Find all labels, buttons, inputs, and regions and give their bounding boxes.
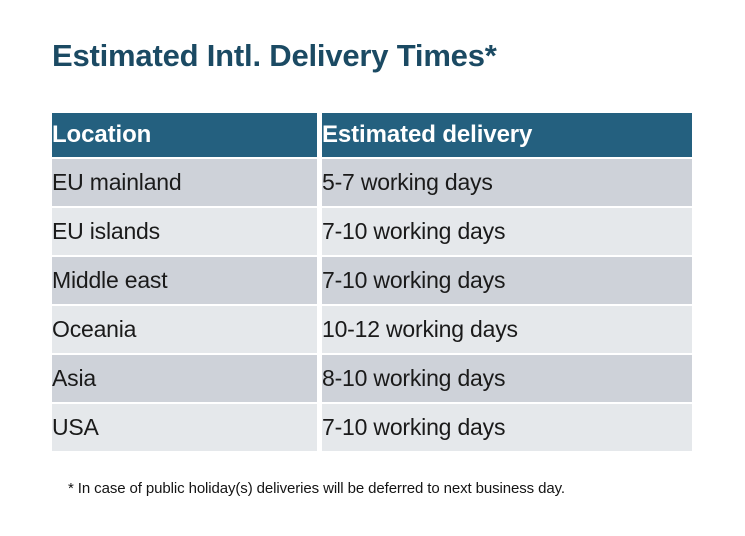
cell-location: EU mainland: [52, 159, 317, 206]
table-row: Asia 8-10 working days: [52, 355, 692, 402]
cell-delivery: 8-10 working days: [322, 355, 692, 402]
cell-location: USA: [52, 404, 317, 451]
cell-location: Oceania: [52, 306, 317, 353]
page-title: Estimated Intl. Delivery Times*: [52, 38, 497, 74]
cell-location: Middle east: [52, 257, 317, 304]
cell-location: Asia: [52, 355, 317, 402]
table-row: Oceania 10-12 working days: [52, 306, 692, 353]
cell-location: EU islands: [52, 208, 317, 255]
column-header-location: Location: [52, 113, 317, 157]
table-row: USA 7-10 working days: [52, 404, 692, 451]
cell-delivery: 7-10 working days: [322, 208, 692, 255]
footnote: * In case of public holiday(s) deliverie…: [68, 480, 565, 497]
table-row: Middle east 7-10 working days: [52, 257, 692, 304]
cell-delivery: 5-7 working days: [322, 159, 692, 206]
table-row: EU islands 7-10 working days: [52, 208, 692, 255]
delivery-times-table: Location Estimated delivery EU mainland …: [52, 113, 692, 451]
table-body: EU mainland 5-7 working days EU islands …: [52, 157, 692, 451]
cell-delivery: 10-12 working days: [322, 306, 692, 353]
delivery-times-page: Estimated Intl. Delivery Times* Location…: [0, 0, 745, 536]
table-header: Location Estimated delivery: [52, 113, 692, 157]
table-row: EU mainland 5-7 working days: [52, 159, 692, 206]
table-header-row: Location Estimated delivery: [52, 113, 692, 157]
cell-delivery: 7-10 working days: [322, 257, 692, 304]
cell-delivery: 7-10 working days: [322, 404, 692, 451]
column-header-estimated-delivery: Estimated delivery: [322, 113, 692, 157]
